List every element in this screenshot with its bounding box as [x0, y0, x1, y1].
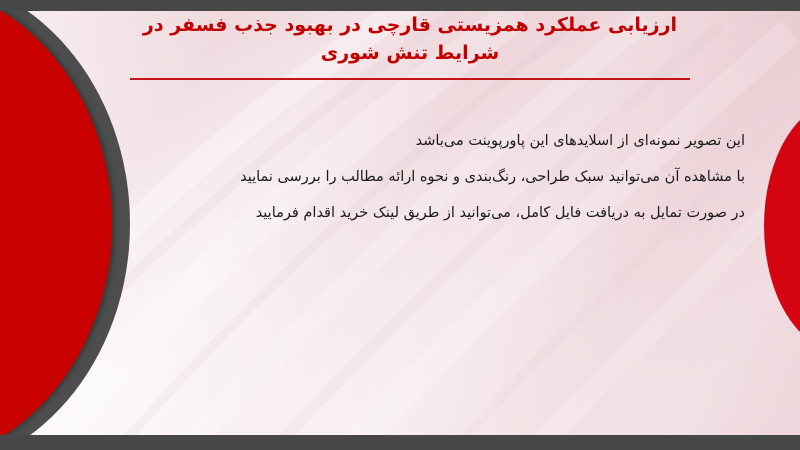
body-line-2: با مشاهده آن می‌توانید سبک طراحی، رنگ‌بن… — [95, 159, 745, 195]
slide-title-line-2: شرایط تنش شوری — [120, 39, 700, 67]
title-underline-rule — [130, 78, 690, 80]
bottom-bar — [0, 435, 800, 450]
slide-content: ارزیابی عملکرد همزیستی قارچی در بهبود جذ… — [0, 11, 800, 435]
slide-title: ارزیابی عملکرد همزیستی قارچی در بهبود جذ… — [120, 11, 700, 67]
slide-title-line-1: ارزیابی عملکرد همزیستی قارچی در بهبود جذ… — [120, 11, 700, 39]
body-line-3: در صورت تمایل به دریافت فایل کامل، می‌تو… — [95, 195, 745, 231]
slide-canvas: ارزیابی عملکرد همزیستی قارچی در بهبود جذ… — [0, 0, 800, 450]
body-line-1: این تصویر نمونه‌ای از اسلایدهای این پاور… — [95, 123, 745, 159]
top-bar — [0, 0, 800, 11]
slide-body-text: این تصویر نمونه‌ای از اسلایدهای این پاور… — [95, 123, 745, 231]
